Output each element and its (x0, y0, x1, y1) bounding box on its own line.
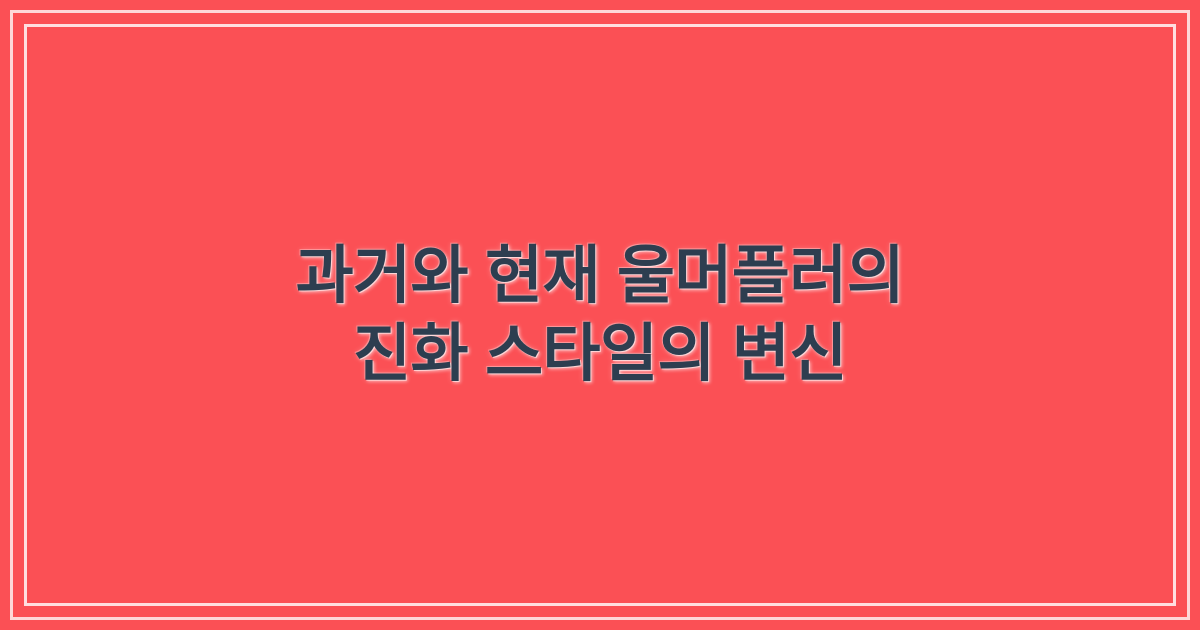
page-title: 과거와 현재 울머플러의 진화 스타일의 변신 (100, 237, 1100, 393)
banner-card: 과거와 현재 울머플러의 진화 스타일의 변신 (0, 0, 1200, 630)
banner-content: 과거와 현재 울머플러의 진화 스타일의 변신 (0, 0, 1200, 630)
